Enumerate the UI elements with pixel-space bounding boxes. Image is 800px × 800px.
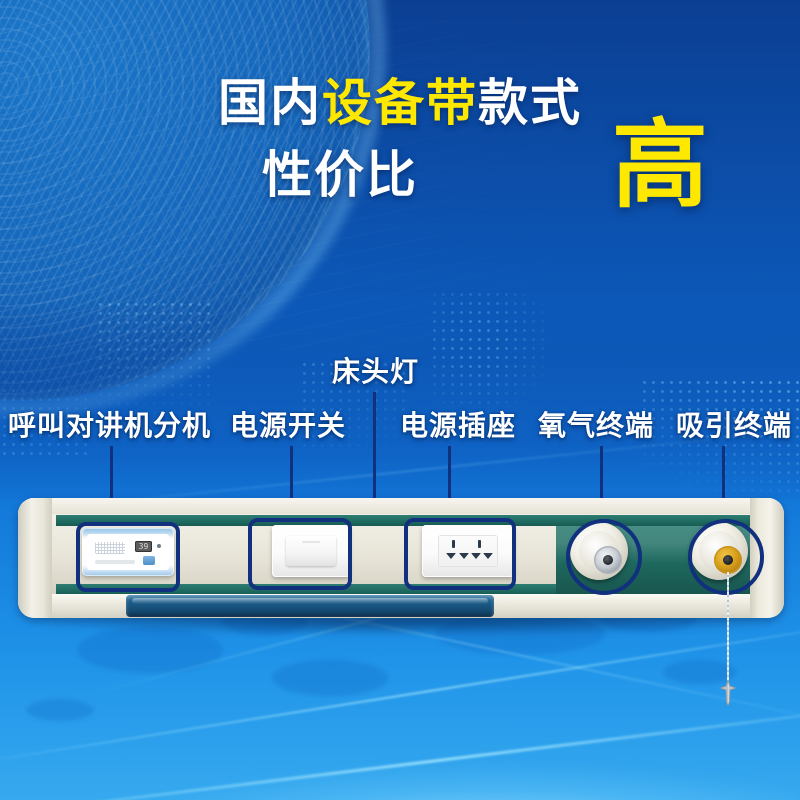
headline-big-word-high: 高: [612, 118, 708, 214]
highlight-circle-oxygen: [566, 519, 642, 595]
callout-oxygen-terminal: 氧气终端: [538, 412, 654, 440]
callout-suction-terminal: 吸引终端: [676, 412, 792, 440]
panel-end-cap-left: [18, 498, 52, 618]
callout-power-socket: 电源插座: [400, 412, 516, 440]
halftone-dots: [96, 300, 216, 420]
halftone-dots: [0, 350, 90, 460]
highlight-box-power-switch: [248, 518, 352, 590]
callout-power-switch: 电源开关: [230, 412, 346, 440]
lamp-pull-cord[interactable]: [727, 572, 729, 684]
headline-seg-equipment-belt: 设备带: [322, 75, 478, 131]
panel-top-bevel: [18, 498, 784, 514]
headline-seg-value-ratio: 性价比: [262, 147, 418, 203]
highlight-box-power-socket: [404, 518, 516, 590]
highlight-circle-suction: [688, 519, 764, 595]
callout-intercom: 呼叫对讲机分机: [8, 412, 211, 440]
bed-lamp-diffuser[interactable]: [126, 595, 494, 617]
headline-seg-domestic: 国内: [218, 75, 322, 131]
callout-bed-lamp: 床头灯: [332, 358, 419, 386]
pull-cord-handle[interactable]: [716, 680, 740, 706]
headline-seg-style: 款式: [478, 75, 582, 131]
poster-canvas: 国内设备带款式 性价比 高 呼叫对讲机分机 电源开关 床头灯 电源插座 氧气终端…: [0, 0, 800, 800]
bottom-glow: [0, 650, 800, 800]
highlight-box-intercom: [76, 522, 180, 592]
halftone-dots: [430, 290, 550, 420]
